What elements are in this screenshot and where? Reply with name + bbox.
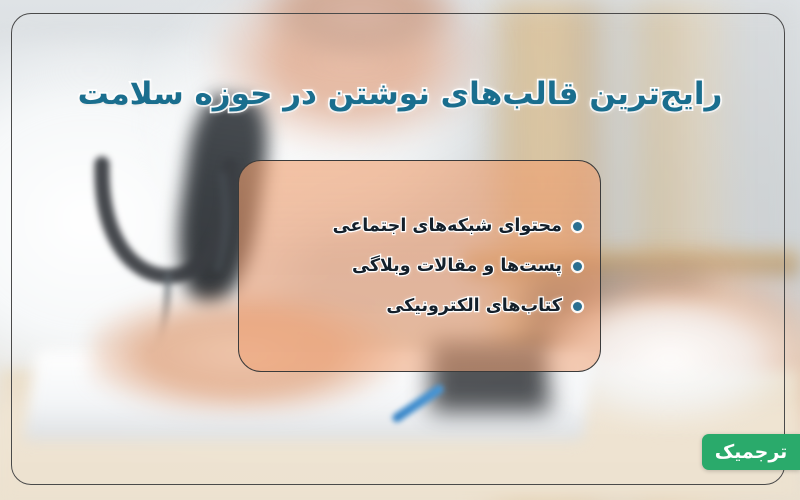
page-title: رایج‌ترین قالب‌های نوشتن در حوزه سلامت [0,75,800,114]
list-item: کتاب‌های الکترونیکی [257,296,582,316]
bullet-label: محتوای شبکه‌های اجتماعی [333,216,562,236]
brand-logo-text: ترجمیک [715,443,788,462]
bullet-card: محتوای شبکه‌های اجتماعی پست‌ها و مقالات … [238,160,601,372]
doctor-chin [255,0,475,64]
bullet-dot-icon [573,302,582,311]
brand-logo-badge[interactable]: ترجمیک [702,434,800,470]
bullet-label: پست‌ها و مقالات وبلاگی [352,256,562,276]
bullet-dot-icon [573,222,582,231]
list-item: محتوای شبکه‌های اجتماعی [257,216,582,236]
bullet-label: کتاب‌های الکترونیکی [386,296,562,316]
banner-canvas: رایج‌ترین قالب‌های نوشتن در حوزه سلامت م… [0,0,800,500]
bullet-dot-icon [573,262,582,271]
list-item: پست‌ها و مقالات وبلاگی [257,256,582,276]
